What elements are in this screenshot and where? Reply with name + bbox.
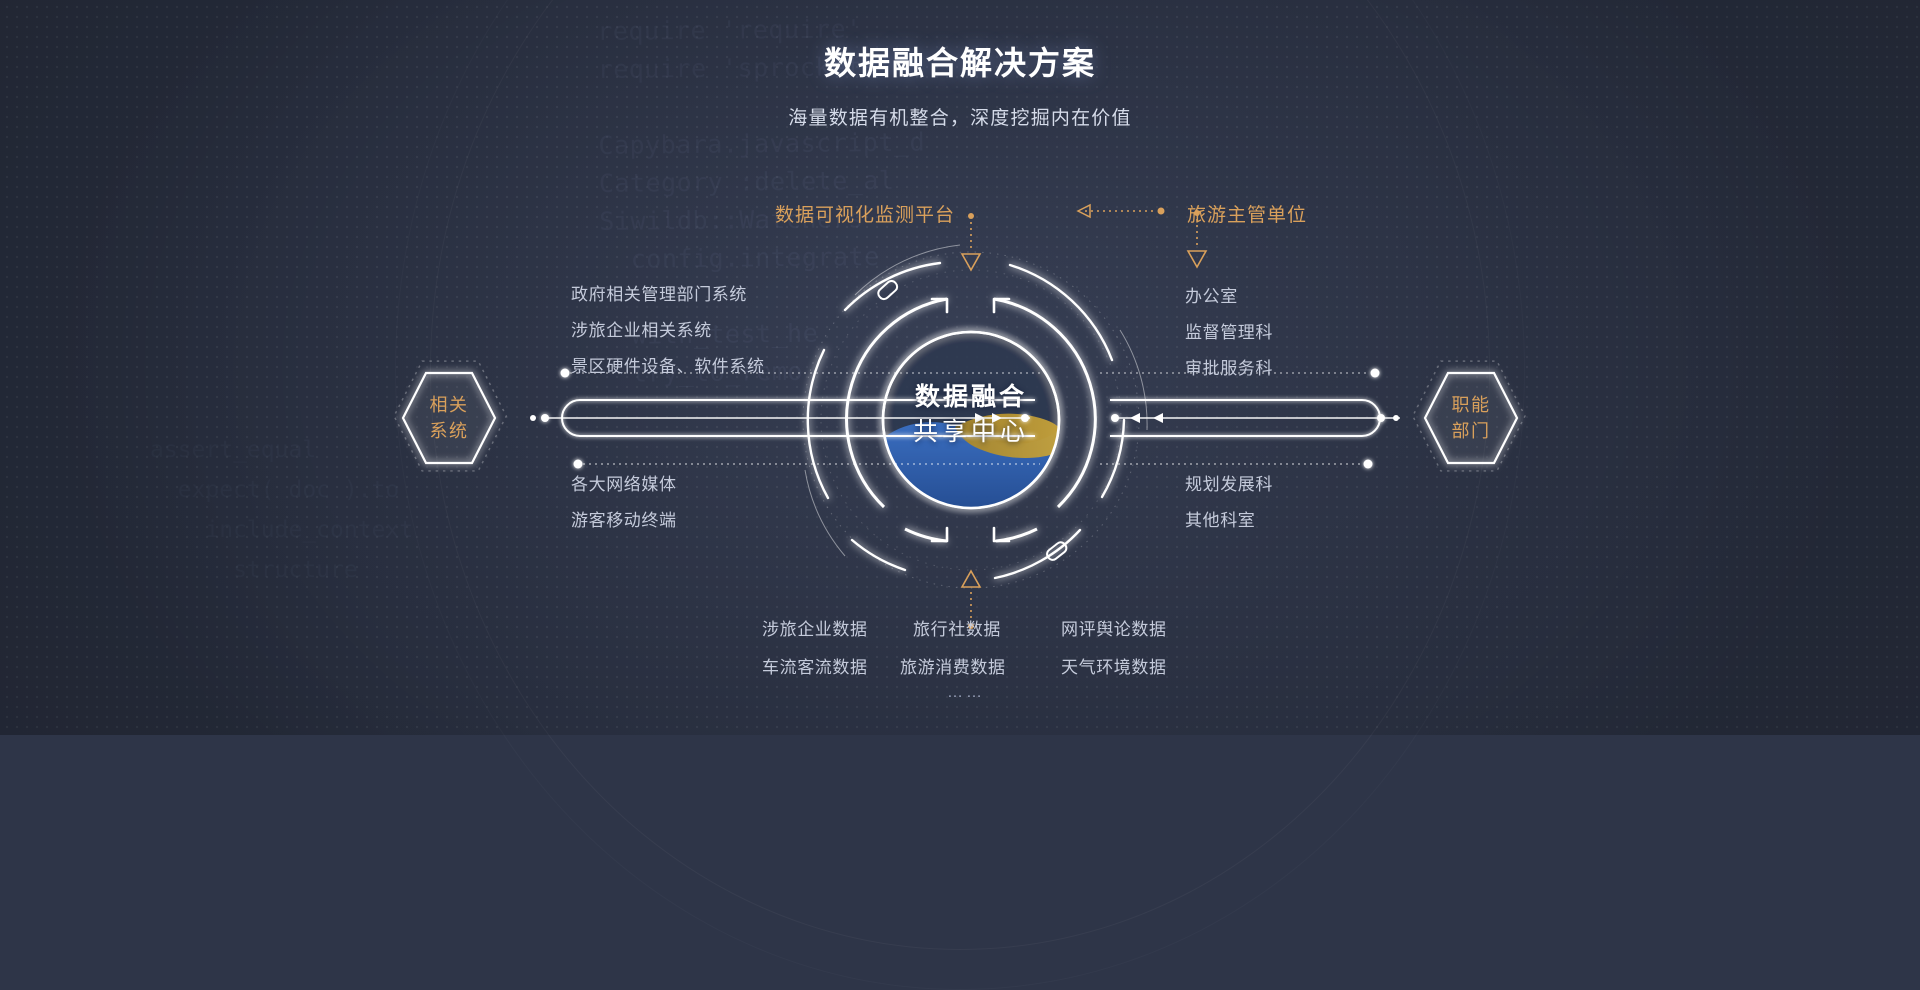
amber-horizontal-connector — [1078, 205, 1165, 217]
right-hexagon-line-1: 职能 — [1416, 392, 1526, 418]
top-down-arrow-platform — [962, 213, 980, 270]
right-item-1[interactable]: 监督管理科 — [1185, 318, 1273, 343]
label-tourism-authority[interactable]: 旅游主管单位 — [1187, 200, 1307, 227]
right-item-2[interactable]: 审批服务科 — [1185, 354, 1273, 379]
left-hexagon-line-1: 相关 — [394, 392, 504, 418]
center-line-1: 数据融合 — [861, 380, 1081, 415]
page-subtitle: 海量数据有机整合，深度挖掘内在价值 — [0, 103, 1920, 130]
center-node-label: 数据融合 共享中心 — [861, 380, 1081, 450]
right-item-0[interactable]: 办公室 — [1185, 282, 1238, 307]
bottom-ellipsis: …… — [947, 684, 985, 702]
bottom-item-r0c2[interactable]: 网评舆论数据 — [1061, 615, 1167, 640]
page-title: 数据融合解决方案 — [0, 38, 1920, 84]
left-hexagon-line-2: 系统 — [394, 418, 504, 444]
center-line-2: 共享中心 — [861, 415, 1081, 450]
left-item-0[interactable]: 政府相关管理部门系统 — [571, 280, 747, 305]
page-header: 数据融合解决方案 海量数据有机整合，深度挖掘内在价值 — [0, 0, 1920, 130]
right-hexagon-label: 职能 部门 — [1416, 392, 1526, 444]
bottom-item-r1c0[interactable]: 车流客流数据 — [762, 653, 868, 678]
bottom-item-r0c0[interactable]: 涉旅企业数据 — [762, 615, 868, 640]
left-lower-item-1[interactable]: 游客移动终端 — [571, 506, 677, 531]
left-hexagon-label: 相关 系统 — [394, 392, 504, 444]
bottom-item-r0c1[interactable]: 旅行社数据 — [913, 615, 1001, 640]
left-item-1[interactable]: 涉旅企业相关系统 — [571, 316, 712, 341]
right-lower-dotted-line — [1100, 460, 1373, 469]
bottom-item-r1c2[interactable]: 天气环境数据 — [1061, 653, 1167, 678]
right-bus-center-line — [1111, 413, 1400, 423]
right-lower-item-1[interactable]: 其他科室 — [1185, 506, 1255, 531]
left-item-2[interactable]: 景区硬件设备、软件系统 — [571, 352, 765, 377]
bottom-item-r1c1[interactable]: 旅游消费数据 — [900, 653, 1006, 678]
right-lower-item-0[interactable]: 规划发展科 — [1185, 470, 1273, 495]
label-data-visualization-platform[interactable]: 数据可视化监测平台 — [775, 200, 955, 227]
left-lower-item-0[interactable]: 各大网络媒体 — [571, 470, 677, 495]
right-hexagon-line-2: 部门 — [1416, 418, 1526, 444]
